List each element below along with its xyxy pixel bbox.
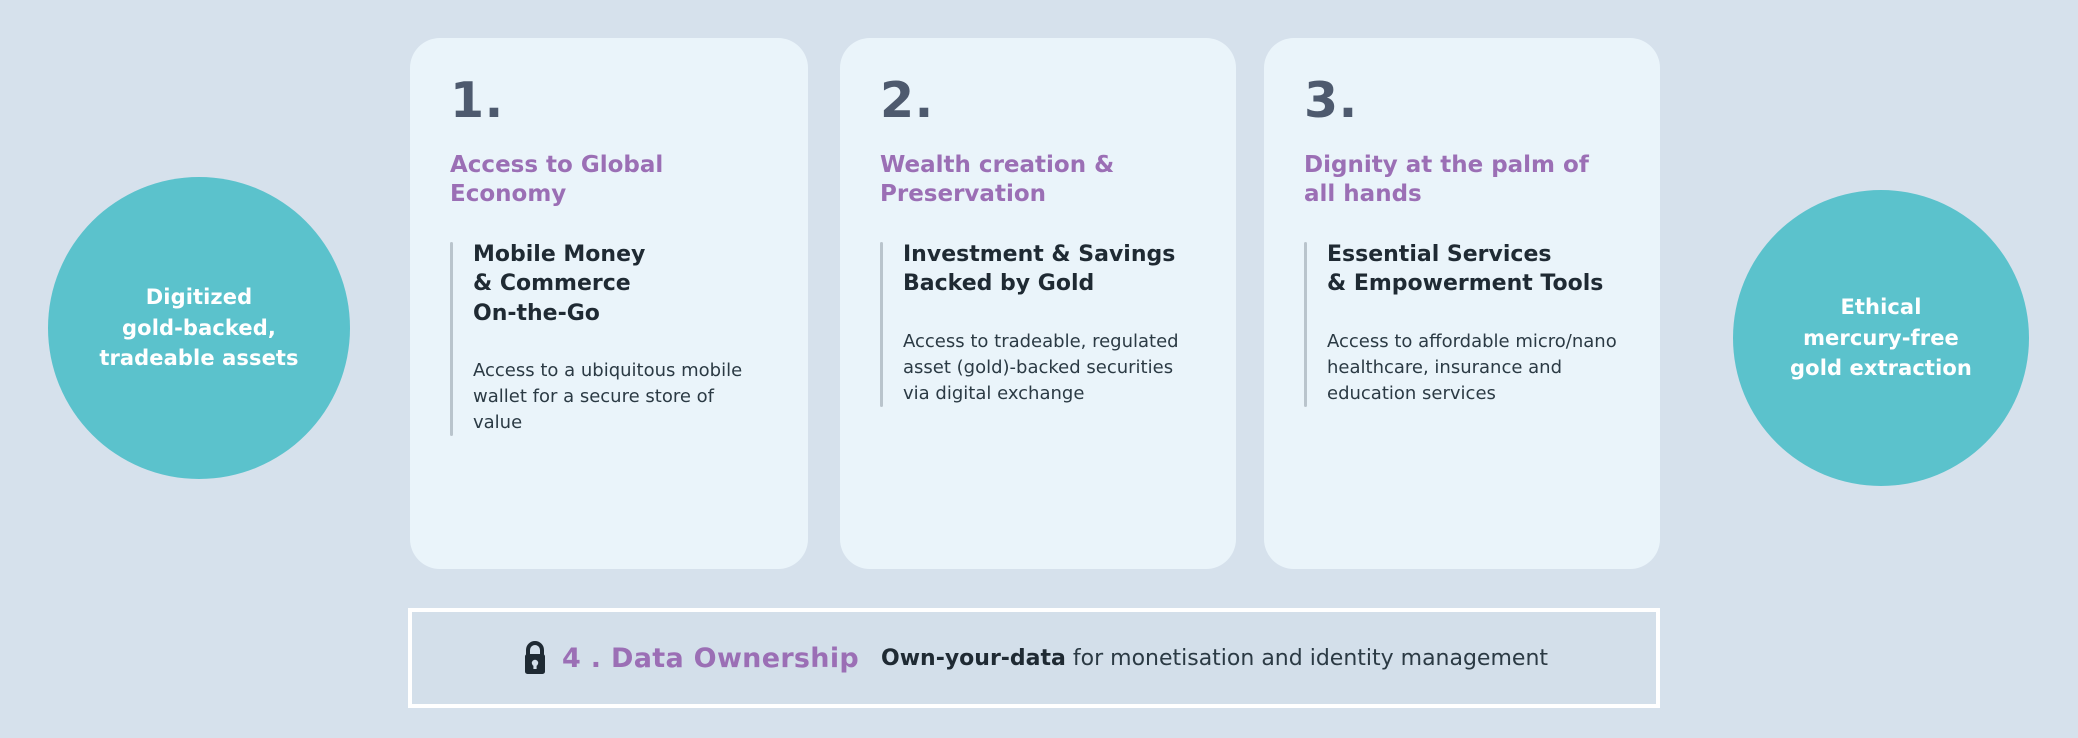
- card-3-sub-block: Essential Services & Empowerment Tools A…: [1304, 240, 1620, 407]
- card-2-sub-block: Investment & Savings Backed by Gold Acce…: [880, 240, 1196, 407]
- card-2-number: 2.: [880, 76, 1196, 125]
- card-1-title: Access to Global Economy: [450, 151, 768, 210]
- infographic-stage: Digitized gold-backed, tradeable assets …: [0, 0, 2078, 738]
- card-2-title: Wealth creation & Preservation: [880, 151, 1196, 210]
- card-2-sub-body: Access to tradeable, regulated asset (go…: [903, 329, 1196, 407]
- banner-strong-text: Own-your-data: [881, 646, 1066, 671]
- card-1-number: 1.: [450, 76, 768, 125]
- circle-right-label: Ethical mercury-free gold extraction: [1790, 292, 1972, 383]
- card-3-sub-heading: Essential Services & Empowerment Tools: [1327, 240, 1620, 299]
- banner-content: 4 . Data Ownership Own-your-data for mon…: [500, 640, 1568, 676]
- card-3-sub-body: Access to affordable micro/nano healthca…: [1327, 329, 1620, 407]
- circle-ethical-gold-extraction: Ethical mercury-free gold extraction: [1733, 190, 2029, 486]
- banner-rest-text: for monetisation and identity management: [1073, 646, 1548, 671]
- card-2-sub-heading: Investment & Savings Backed by Gold: [903, 240, 1196, 299]
- card-3-number: 3.: [1304, 76, 1620, 125]
- data-ownership-banner[interactable]: 4 . Data Ownership Own-your-data for mon…: [408, 608, 1660, 708]
- card-3-title: Dignity at the palm of all hands: [1304, 151, 1620, 210]
- card-1-sub-block: Mobile Money & Commerce On-the-Go Access…: [450, 240, 768, 436]
- card-1-sub-body: Access to a ubiquitous mobile wallet for…: [473, 358, 768, 436]
- banner-number-label: 4 . Data Ownership: [562, 643, 859, 674]
- circle-left-label: Digitized gold-backed, tradeable assets: [99, 282, 298, 373]
- circle-digitized-assets: Digitized gold-backed, tradeable assets: [48, 177, 350, 479]
- card-wealth-creation-preservation[interactable]: 2. Wealth creation & Preservation Invest…: [840, 38, 1236, 569]
- card-dignity-at-the-palm-of-all-hands[interactable]: 3. Dignity at the palm of all hands Esse…: [1264, 38, 1660, 569]
- card-1-sub-heading: Mobile Money & Commerce On-the-Go: [473, 240, 768, 328]
- lock-icon: [520, 640, 550, 676]
- card-access-to-global-economy[interactable]: 1. Access to Global Economy Mobile Money…: [410, 38, 808, 569]
